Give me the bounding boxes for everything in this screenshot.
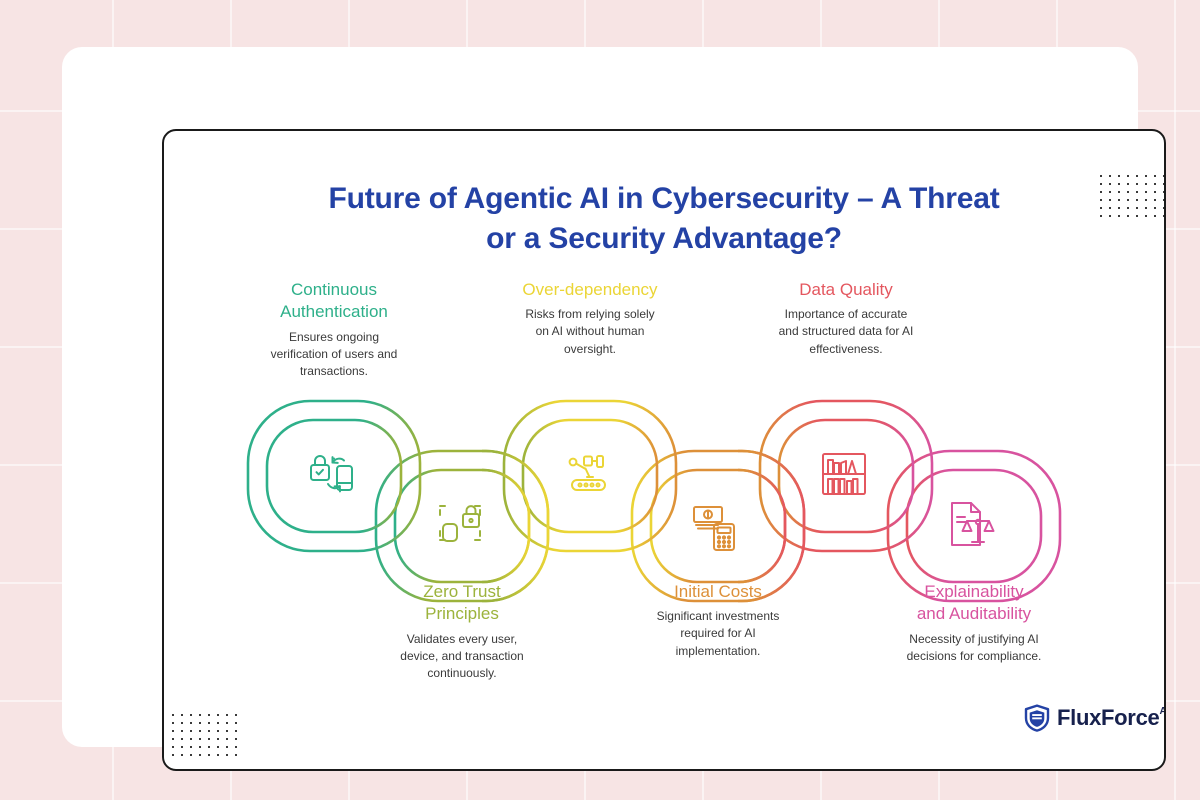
item-heading: Continuous Authentication	[229, 279, 439, 324]
item-heading: Explainability and Auditability	[869, 581, 1079, 626]
money-calculator-icon	[694, 507, 734, 550]
item-heading: Zero Trust Principles	[357, 581, 567, 626]
item-description: Ensures ongoing verification of users an…	[229, 329, 439, 380]
dashed-frame-lock-icon	[440, 506, 480, 541]
logo-superscript: AI	[1159, 706, 1166, 717]
chain-diagram	[164, 131, 1164, 769]
item-heading: Data Quality	[741, 279, 951, 301]
item-label-block: Zero Trust PrinciplesValidates every use…	[357, 581, 567, 682]
infographic-card: Future of Agentic AI in Cybersecurity – …	[62, 47, 1138, 747]
item-description: Risks from relying solely on AI without …	[485, 306, 695, 357]
item-label-block: Continuous AuthenticationEnsures ongoing…	[229, 279, 439, 380]
item-description: Necessity of justifying AI decisions for…	[869, 631, 1079, 665]
document-scales-icon	[952, 503, 994, 545]
item-description: Validates every user, device, and transa…	[357, 631, 567, 682]
item-heading: Over-dependency	[485, 279, 695, 301]
item-heading: Initial Costs	[613, 581, 823, 603]
robot-arm-icon	[570, 456, 605, 490]
item-label-block: Initial CostsSignificant investments req…	[613, 581, 823, 660]
lock-phone-sync-icon	[311, 456, 352, 491]
item-description: Importance of accurate and structured da…	[741, 306, 951, 357]
item-label-block: Explainability and AuditabilityNecessity…	[869, 581, 1079, 665]
shield-icon	[1024, 704, 1050, 732]
brand-logo: FluxForceAI	[1024, 704, 1166, 732]
infographic-inner-frame: Future of Agentic AI in Cybersecurity – …	[162, 129, 1166, 771]
item-description: Significant investments required for AI …	[613, 608, 823, 659]
logo-name: FluxForce	[1057, 705, 1159, 731]
item-label-block: Data QualityImportance of accurate and s…	[741, 279, 951, 358]
bookshelf-icon	[823, 454, 865, 494]
item-label-block: Over-dependencyRisks from relying solely…	[485, 279, 695, 358]
logo-text: FluxForceAI	[1057, 705, 1166, 731]
